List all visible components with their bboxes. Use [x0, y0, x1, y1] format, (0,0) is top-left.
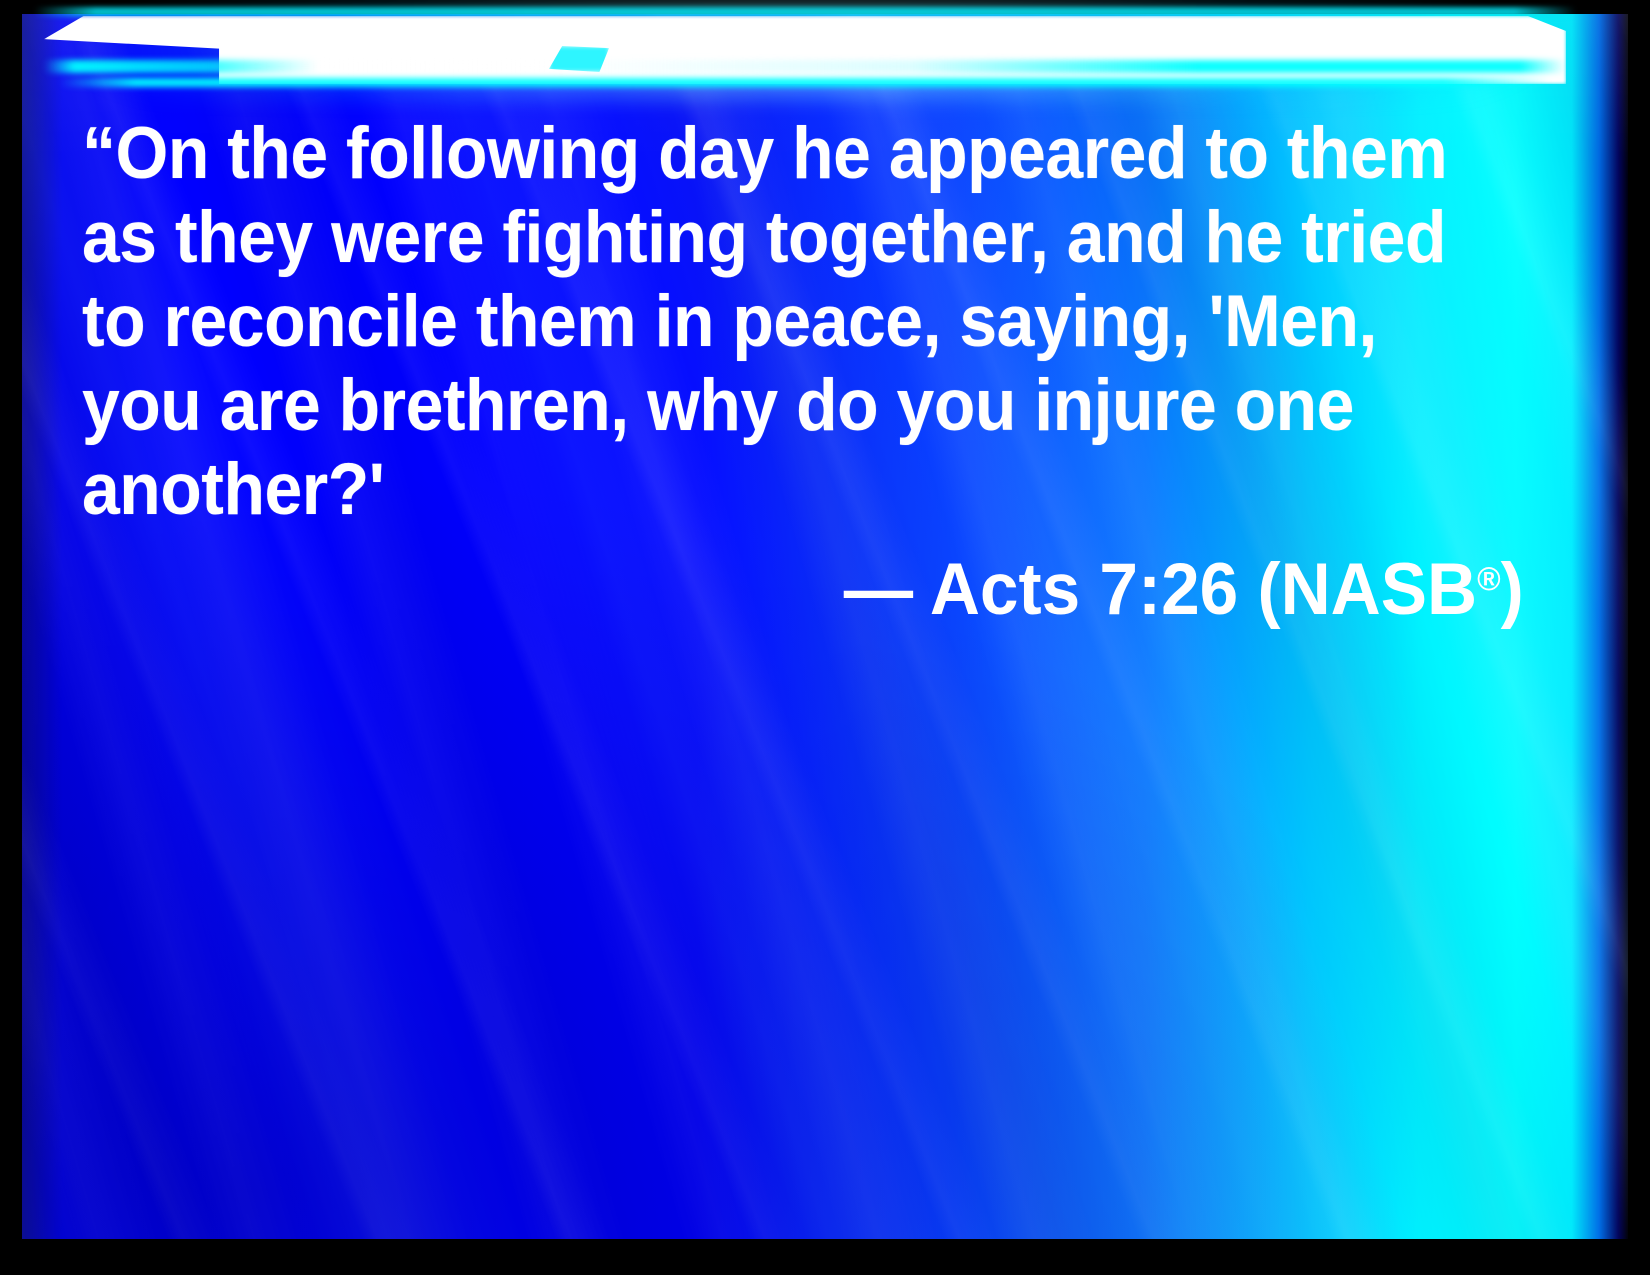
- verse-body-text: “On the following day he appeared to the…: [82, 112, 1484, 532]
- verse-attribution-row: — Acts 7:26 (NASB®): [82, 548, 1590, 632]
- verse-slide: “On the following day he appeared to the…: [0, 0, 1650, 1275]
- registered-trademark-icon: ®: [1477, 561, 1501, 598]
- verse-attribution: — Acts 7:26 (NASB®): [844, 548, 1524, 632]
- verse-attribution-suffix: ): [1501, 549, 1524, 630]
- verse-attribution-prefix: — Acts 7:26 (NASB: [844, 549, 1477, 630]
- verse-content-block: “On the following day he appeared to the…: [0, 112, 1650, 632]
